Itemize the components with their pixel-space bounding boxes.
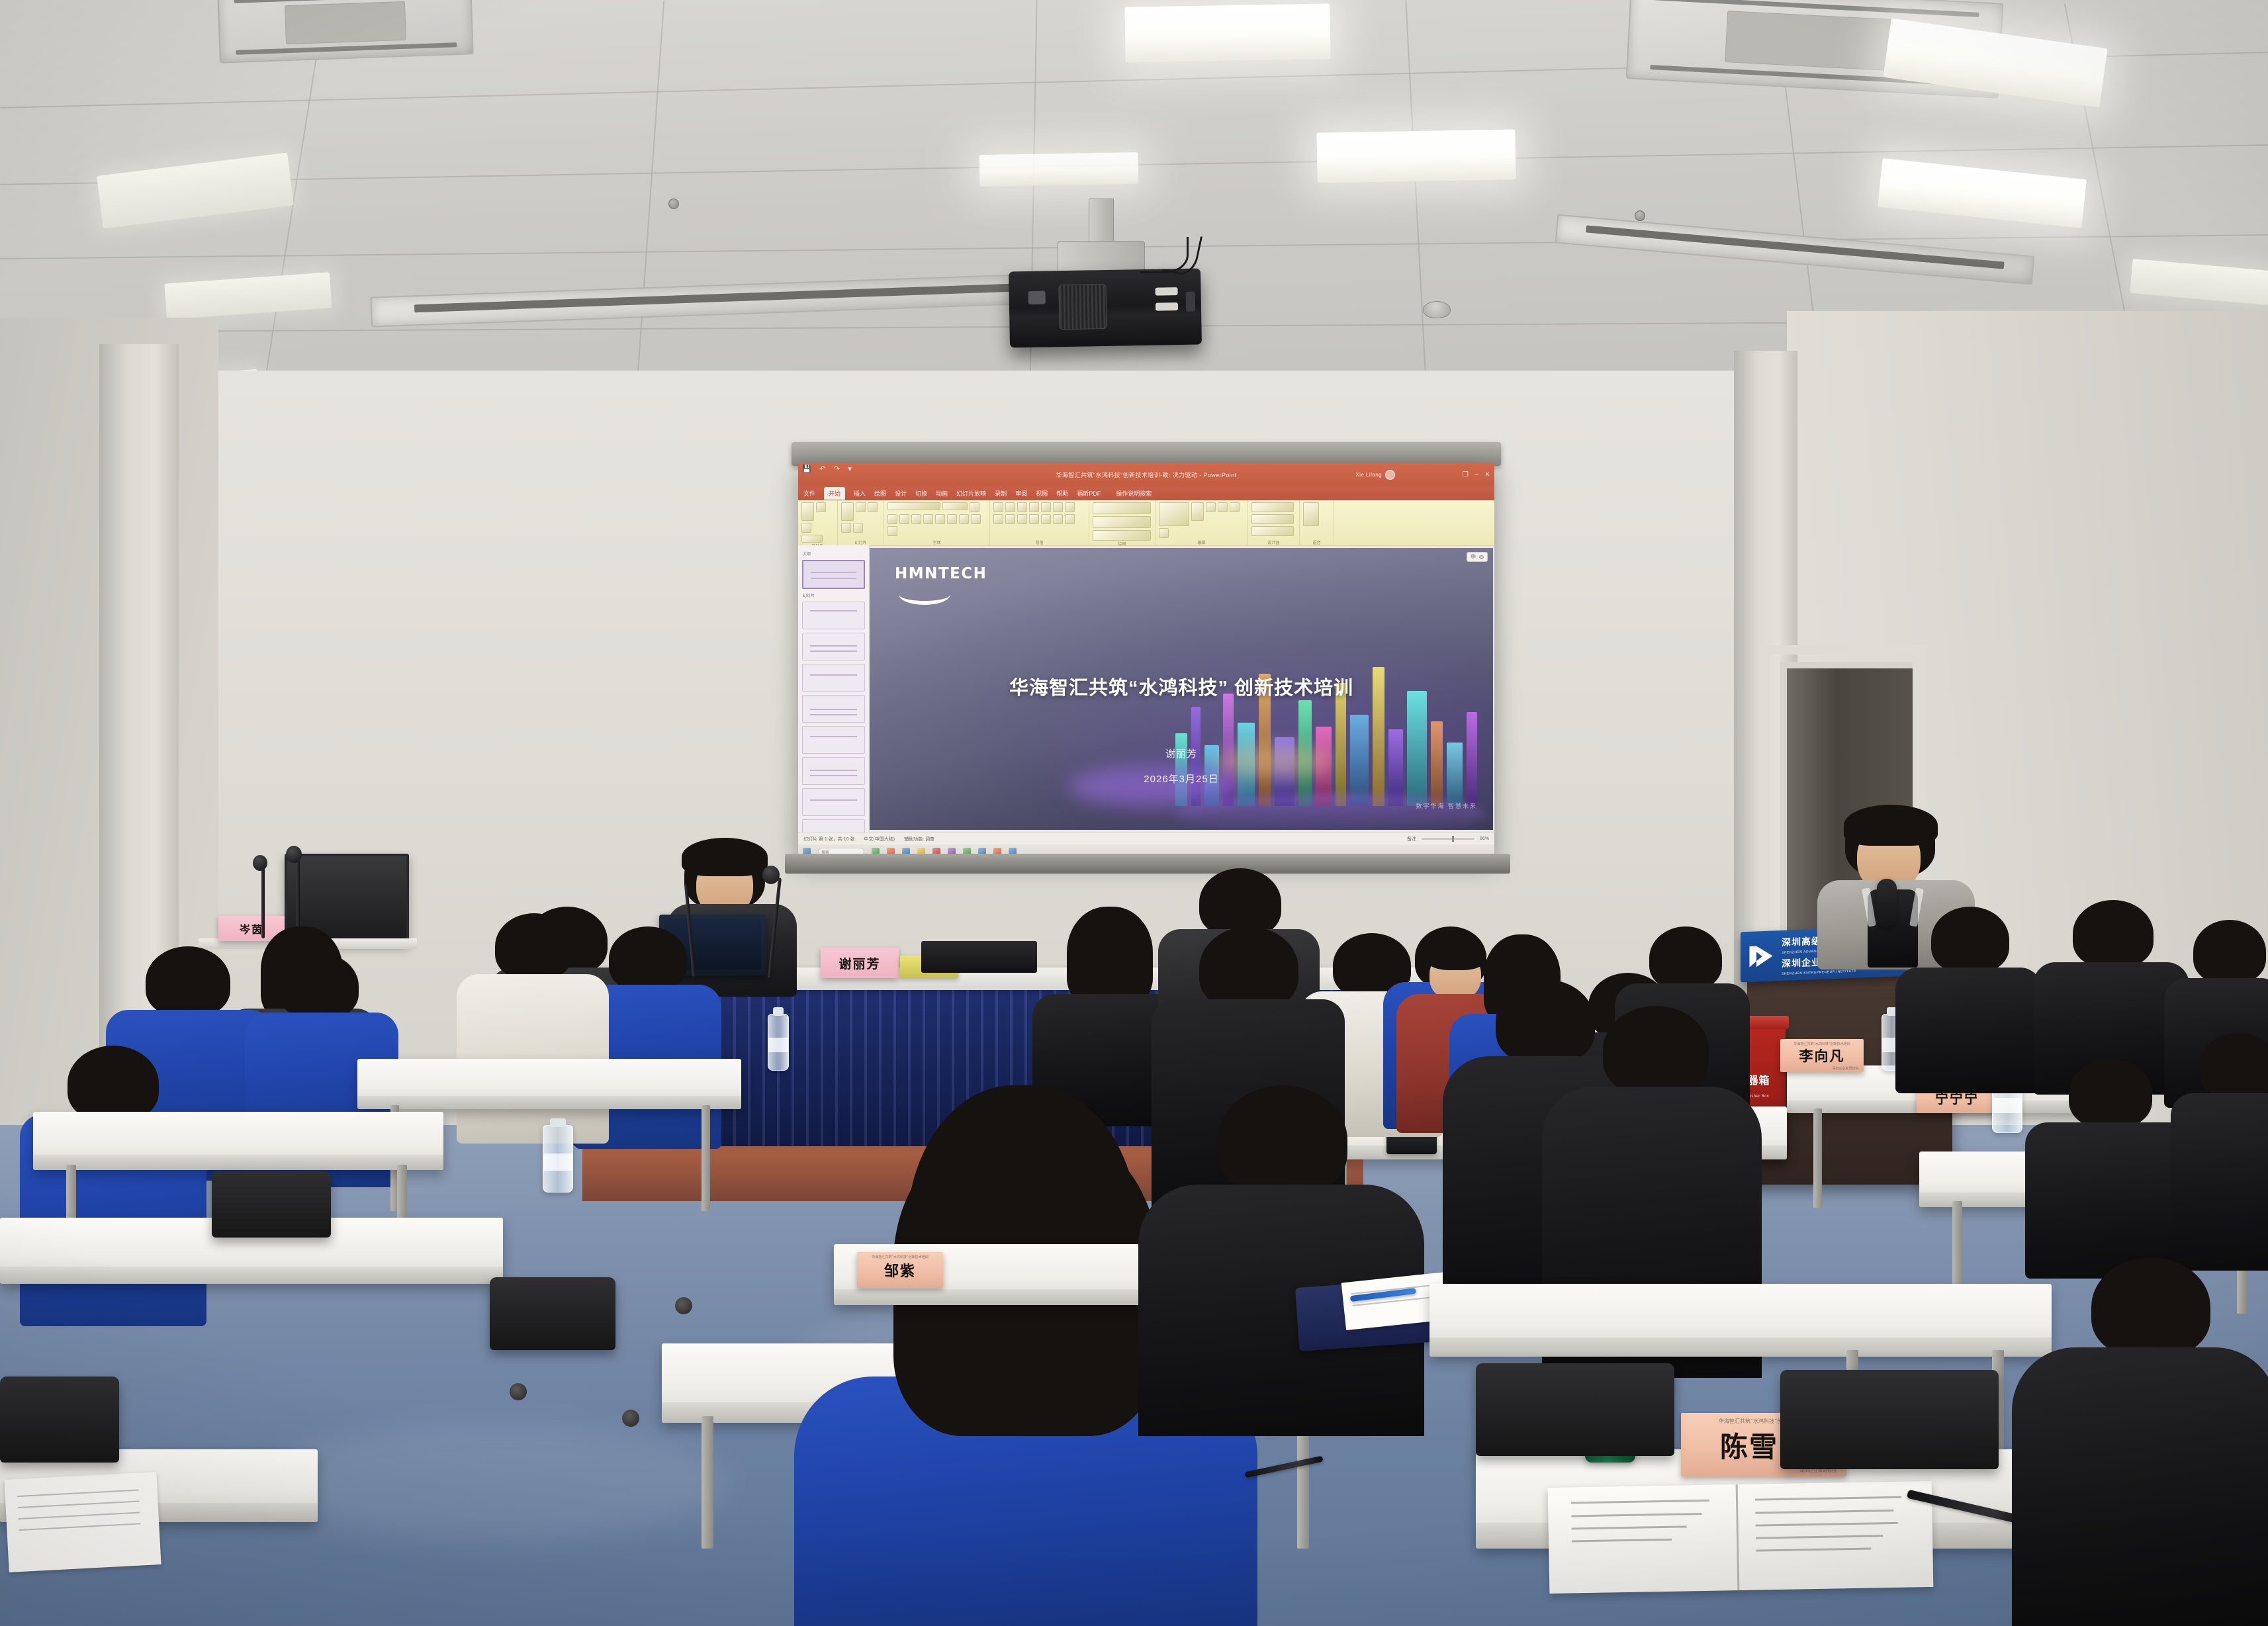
slide-thumbnail[interactable] [802,819,865,833]
projection-screen-weight-bar [785,854,1510,874]
slide-thumbnail[interactable] [802,695,865,723]
ribbon-group-designer[interactable]: 语音 [1300,500,1334,545]
ceiling-light-panel [1316,129,1516,183]
slide-date: 2026年3月25日 [870,772,1493,786]
ribbon-group-label: 设计器 [1251,539,1296,545]
avatar[interactable] [1385,470,1395,480]
ribbon[interactable]: 剪贴板 幻灯片 字体 段落 绘图 编辑 [798,500,1494,546]
redo-icon[interactable]: ↷ [834,465,840,473]
slide-thumbnail[interactable] [802,633,865,660]
slide-counter: 幻灯片 第 1 张，共 10 张 [803,836,854,842]
microphone-head [253,855,267,871]
slide-thumbnail[interactable] [802,664,865,692]
ribbon-group-paragraph[interactable]: 段落 [990,500,1089,545]
tab-record[interactable]: 录制 [995,489,1007,498]
projection-screen-housing [792,442,1501,466]
desk-leg [702,1416,713,1549]
tab-draw[interactable]: 绘图 [874,489,886,498]
sprinkler-head [668,199,679,209]
placard-li-xiangfan: 华海智汇共筑“水鸿科技”创新技术培训 李向凡 深圳企业家研修院 [1780,1039,1864,1072]
language-indicator[interactable]: 中文(中国大陆) [864,836,895,842]
tab-foxit-pdf[interactable]: 福昕PDF [1077,489,1101,498]
microphone-head [286,846,302,863]
microphone-head [762,866,780,884]
quick-access-toolbar[interactable]: 💾 ↶ ↷ ▾ [802,465,852,473]
attendee [1138,1085,1423,1429]
tab-transitions[interactable]: 切换 [915,489,927,498]
hmn-tech-logo: HMNTECH [895,565,987,605]
tab-insert[interactable]: 插入 [854,489,866,498]
placard-name: 邹紫 [884,1259,916,1281]
close-button[interactable]: ✕ [1484,471,1490,478]
attendee [1893,907,2045,1085]
chair[interactable] [0,1377,119,1463]
logo-wordmark: HMNTECH [895,565,987,582]
zoom-slider[interactable] [1422,838,1474,840]
minimize-button[interactable]: – [1474,471,1478,478]
placard-header-line: 华海智汇共筑“水鸿科技”创新技术培训 [1780,1042,1864,1046]
water-reflection [1175,794,1486,830]
pane-section-outline[interactable]: 大纲 [803,551,869,557]
ceiling-speaker [1423,301,1451,318]
slide-title: 华海智汇共筑“水鸿科技” 创新技术培训 [870,672,1493,700]
account-area[interactable]: Xie Lifang [1355,463,1395,486]
undo-icon[interactable]: ↶ [819,465,826,473]
notes-button[interactable]: 备注 [1407,836,1416,842]
slide-thumbnail[interactable] [802,757,865,785]
ribbon-group-drawing[interactable]: 编辑 [1156,500,1248,545]
tab-animations[interactable]: 动画 [936,489,948,498]
placard-name: 李向凡 [1799,1046,1845,1065]
placard-brand: 深圳企业家研修院 [1832,1066,1858,1071]
projection-screen: 💾 ↶ ↷ ▾ 华海智汇共筑"水鸿科技"创新技术培训-致: 决力驱动 - Pow… [798,463,1494,859]
ribbon-group-label: 字体 [887,539,986,545]
tab-slideshow[interactable]: 幻灯片放映 [956,489,986,498]
tab-help[interactable]: 帮助 [1056,489,1068,498]
chair[interactable] [212,1171,331,1238]
ribbon-group-slides[interactable]: 幻灯片 [838,500,884,545]
chair[interactable] [490,1277,615,1350]
ac-vent [217,0,474,64]
tell-me-search[interactable]: 操作说明搜索 [1116,489,1152,498]
projector-lens [1059,284,1107,330]
chair[interactable] [1476,1363,1674,1456]
floor-reflection [265,1423,728,1542]
window-controls[interactable]: ❐ – ✕ [1463,463,1490,486]
ribbon-group-font[interactable]: 字体 [884,500,990,545]
ribbon-group-label: 段落 [993,539,1085,545]
placard-header-line: 华海智汇共筑“水鸿科技”创新技术培训 [857,1255,943,1259]
chevron-down-icon[interactable]: ▾ [848,465,852,473]
slide-thumbnail[interactable] [802,560,865,589]
ribbon-group-label: 编辑 [1159,539,1244,545]
tab-design[interactable]: 设计 [895,489,907,498]
restore-button[interactable]: ❐ [1463,471,1469,478]
ribbon-tabs[interactable]: 文件 开始 插入 绘图 设计 切换 动画 幻灯片放映 录制 审阅 视图 帮助 福… [798,486,1494,500]
slide-thumbnail[interactable] [802,726,865,754]
save-icon[interactable]: 💾 [802,465,811,473]
desk [33,1112,443,1170]
ribbon-group-editing[interactable]: 设计器 [1248,500,1300,545]
desk-caster [622,1410,639,1427]
tab-file[interactable]: 文件 [803,489,815,498]
ribbon-group-shapes[interactable]: 绘图 [1089,500,1156,545]
slide-presenter-name: 谢丽芳 [870,746,1493,760]
slide-thumbnail[interactable] [802,602,865,629]
accessibility-status[interactable]: 辅助功能: 调查 [904,836,934,842]
placard-name: 谢丽芳 [839,954,880,972]
powerpoint-title-bar: 💾 ↶ ↷ ▾ 华海智汇共筑"水鸿科技"创新技术培训-致: 决力驱动 - Pow… [798,463,1494,486]
ribbon-group-label: 幻灯片 [841,539,880,545]
placard-xie-lifang: 谢丽芳 [821,948,899,978]
account-name: Xie Lifang [1355,472,1382,478]
logo-smile-icon [899,584,950,605]
zoom-level[interactable]: 66% [1480,836,1489,841]
water-bottle[interactable] [768,1014,789,1071]
window-title-text: 华海智汇共筑"水鸿科技"创新技术培训-致: 决力驱动 - PowerPoint [1056,471,1236,479]
ime-mode-badge: 中 [1471,553,1476,561]
desk [1429,1284,2052,1357]
attendee [2171,1032,2268,1271]
ribbon-group-label: 绘图 [1093,541,1152,547]
ceiling-light-panel [1124,3,1330,62]
ime-circle-icon: ◎ [1479,554,1484,560]
handout-paper[interactable] [4,1472,161,1572]
slide-footer-tagline: 数字华海 智慧未来 [1416,801,1477,810]
keyboard[interactable] [921,941,1037,973]
ribbon-group-clipboard[interactable]: 剪贴板 [798,500,838,545]
slide-thumbnail[interactable] [802,788,865,816]
institute-logo-icon [1747,942,1775,970]
pane-section-slides[interactable]: 幻灯片 [803,592,869,598]
attendee [2025,1059,2191,1277]
desk-leg [1813,1108,1822,1208]
ime-indicator[interactable]: 中 ◎ [1467,552,1488,562]
projector-mount [1089,199,1114,246]
status-bar: 幻灯片 第 1 张，共 10 张 中文(中国大陆) 辅助功能: 调查 备注 66… [798,833,1494,844]
projector [1009,268,1202,347]
desk-caster [675,1297,692,1314]
desk-caster [510,1383,527,1400]
tab-review[interactable]: 审阅 [1015,489,1027,498]
desk-leg [702,1105,710,1211]
placard-zou: 华海智汇共筑“水鸿科技”创新技术培训 邹紫 [857,1252,943,1288]
water-bottle[interactable] [543,1125,573,1193]
tab-view[interactable]: 视图 [1036,489,1048,498]
sprinkler-head [1635,210,1645,221]
ribbon-group-label: 语音 [1303,539,1330,545]
desk [357,1059,741,1109]
tab-home[interactable]: 开始 [824,487,845,500]
training-room-photo: 💾 ↶ ↷ ▾ 华海智汇共筑"水鸿科技"创新技术培训-致: 决力驱动 - Pow… [0,0,2268,1626]
ceiling-light-panel [979,152,1139,187]
slide-canvas[interactable]: 中 ◎ HMNTECH [870,548,1493,830]
slide-thumbnail-pane[interactable]: 大纲 幻灯片 [798,545,870,833]
attendee [2012,1257,2268,1626]
open-booklet[interactable] [1548,1481,1934,1594]
desk-leg [1297,1416,1309,1549]
chair[interactable] [1780,1370,1999,1469]
